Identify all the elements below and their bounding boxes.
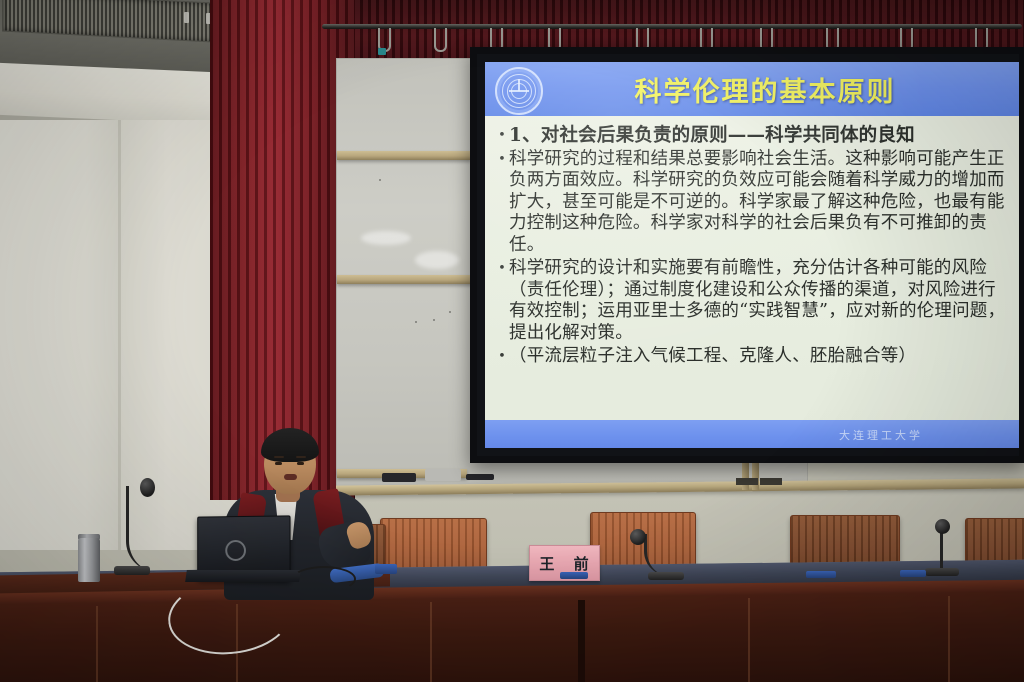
microphone-head-icon: [935, 519, 950, 534]
bullet-marker-icon: •: [495, 346, 509, 367]
person-eyebrow-right: [296, 456, 306, 458]
whiteboard-mark: [449, 311, 451, 313]
marker-pen[interactable]: [466, 474, 494, 480]
slide-bullet: • （平流层粒子注入气候工程、克隆人、胚胎融合等）: [495, 346, 1013, 368]
wall-pillar-seam: [118, 120, 121, 550]
stage-curtain: [210, 0, 355, 500]
whiteboard-ledge: [337, 275, 473, 284]
screen-support-post: [752, 460, 759, 490]
table-seam: [96, 606, 98, 682]
microphone-neck: [940, 530, 947, 572]
microphone-head-icon: [630, 529, 646, 545]
slide-footer: 大连理工大学: [485, 420, 1019, 448]
microphone-head-icon: [140, 478, 155, 497]
desk-object-blue: [900, 570, 926, 577]
table-seam: [748, 598, 750, 682]
desk-object-blue: [375, 564, 397, 574]
slide-body: • 1、对社会后果负责的原则——科学共同体的良知 • 科学研究的过程和结果总要影…: [485, 116, 1019, 368]
table-front-panel: [0, 592, 1024, 682]
bullet-marker-icon: •: [495, 125, 509, 146]
desk-object-blue: [806, 571, 836, 578]
screen-support-post: [742, 460, 749, 490]
whiteboard-mark: [415, 321, 417, 323]
microphone-base: [114, 566, 150, 575]
microphone-base: [925, 568, 959, 576]
university-seal-icon: [495, 67, 543, 115]
curtain-hook-icon: [434, 28, 447, 52]
bullet-marker-icon: •: [495, 258, 509, 279]
person-hair: [261, 428, 319, 462]
whiteboard-ledge: [337, 151, 471, 160]
projection-screen: 科学伦理的基本原则 • 1、对社会后果负责的原则——科学共同体的良知 • 科学研…: [470, 47, 1024, 463]
wall-panel-left: [0, 120, 122, 550]
audio-cable: [292, 566, 356, 592]
name-card-text: 王 前: [533, 553, 595, 574]
whiteboard-smudge: [361, 231, 411, 245]
microphone-base: [648, 572, 684, 580]
table-seam: [948, 596, 950, 682]
curtain-clip-icon: [378, 48, 386, 55]
thermos: [78, 538, 100, 582]
person-eyebrow-left: [274, 456, 284, 458]
slide-header: 科学伦理的基本原则: [485, 62, 1019, 116]
slide-title: 科学伦理的基本原则: [485, 70, 1019, 109]
slide-footer-text: 大连理工大学: [839, 427, 923, 443]
person-eye-left: [275, 462, 282, 465]
desk-object-blue: [560, 572, 588, 579]
bullet-text: （平流层粒子注入气候工程、克隆人、胚胎融合等）: [509, 346, 1013, 368]
slide-bullet: • 科学研究的设计和实施要有前瞻性，充分估计各种可能的风险（责任伦理）；通过制度…: [495, 258, 1013, 344]
bullet-marker-icon: •: [495, 149, 509, 170]
presentation-slide: 科学伦理的基本原则 • 1、对社会后果负责的原则——科学共同体的良知 • 科学研…: [485, 62, 1019, 448]
slide-bullet: • 1、对社会后果负责的原则——科学共同体的良知: [495, 125, 1013, 147]
whiteboard-eraser[interactable]: [425, 469, 461, 481]
bullet-text: 科学研究的过程和结果总要影响社会生活。这种影响可能产生正负两方面效应。科学研究的…: [509, 149, 1013, 257]
slide-bullet: • 科学研究的过程和结果总要影响社会生活。这种影响可能产生正负两方面效应。科学研…: [495, 149, 1013, 257]
screen-post-foot: [736, 478, 758, 485]
bullet-text: 1、对社会后果负责的原则——科学共同体的良知: [509, 125, 1013, 147]
person-eye-right: [297, 462, 304, 465]
laptop-brand-logo-icon: [225, 540, 246, 561]
whiteboard-smudge: [415, 251, 459, 269]
table-seam: [430, 602, 432, 682]
whiteboard-mark: [379, 179, 381, 181]
whiteboard-eraser[interactable]: [382, 473, 416, 482]
screen-post-foot: [760, 478, 782, 485]
table-panel-gap: [578, 600, 585, 682]
lecture-hall-scene: 科学伦理的基本原则 • 1、对社会后果负责的原则——科学共同体的良知 • 科学研…: [0, 0, 1024, 682]
whiteboard-mark: [433, 319, 435, 321]
curtain-rod: [322, 24, 1022, 29]
person-mouth: [284, 474, 297, 480]
bullet-text: 科学研究的设计和实施要有前瞻性，充分估计各种可能的风险（责任伦理）；通过制度化建…: [509, 258, 1013, 344]
